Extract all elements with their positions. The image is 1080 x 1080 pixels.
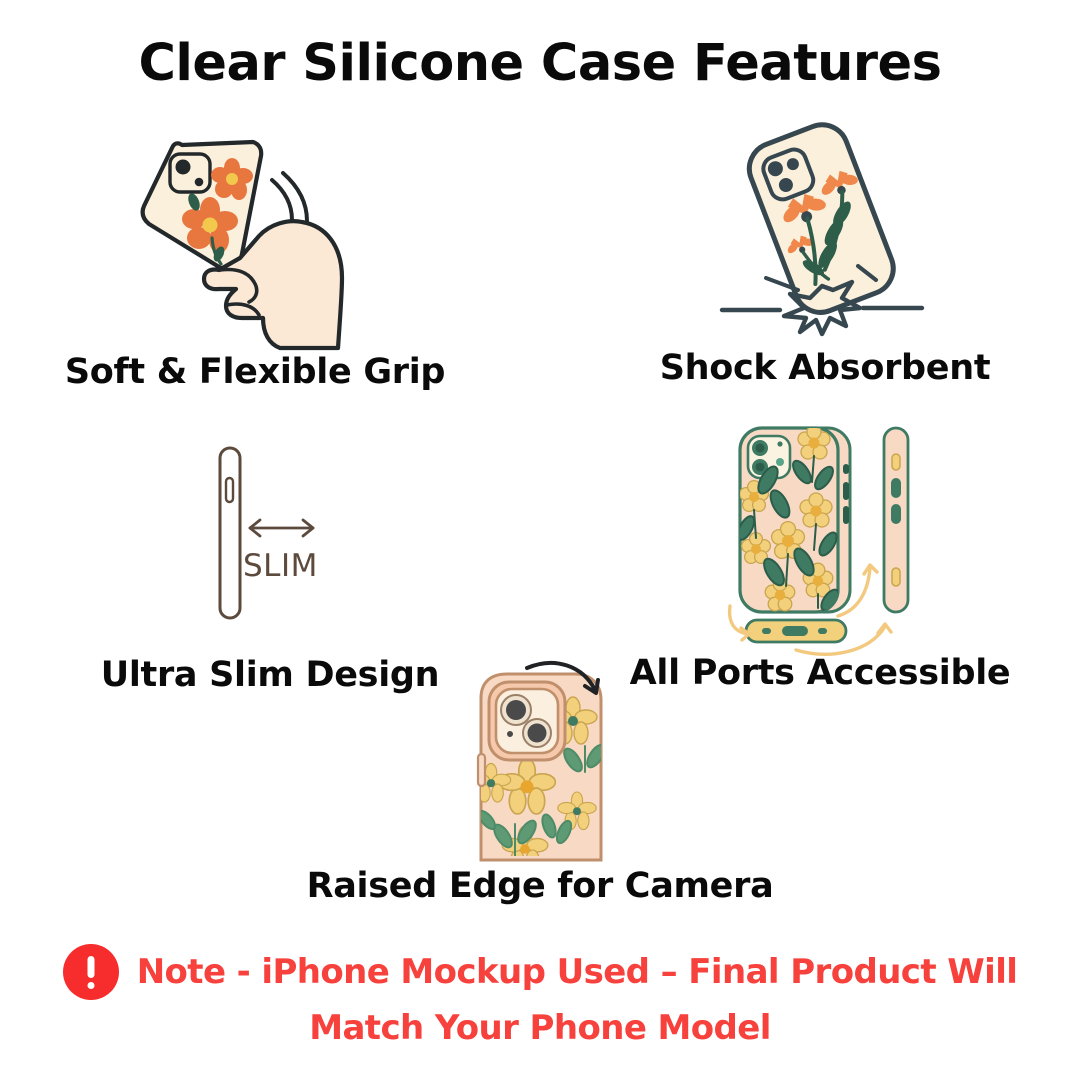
note-text-line-1: Note - iPhone Mockup Used – Final Produc…	[137, 952, 1018, 992]
hand-holding-flexing-phone-case-icon	[143, 142, 342, 348]
all-ports-accessible-illustration	[718, 420, 933, 660]
raised-edge-camera-illustration	[465, 660, 650, 860]
note-text-line-2: Match Your Phone Model	[309, 1008, 771, 1048]
slim-width-arrow-icon	[250, 520, 313, 536]
shock-absorbent-illustration	[700, 118, 945, 338]
note-banner: Note - iPhone Mockup Used – Final Produc…	[0, 944, 1080, 1048]
feature-label-ultra-slim-design: Ultra Slim Design	[0, 655, 540, 695]
feature-label-soft-flexible-grip: Soft & Flexible Grip	[0, 352, 510, 392]
phone-drop-impact-icon	[722, 117, 922, 334]
alert-exclamation-icon	[63, 944, 119, 1000]
infographic-page: Clear Silicone Case Features	[0, 0, 1080, 1080]
phone-camera-raised-bezel-icon	[471, 663, 608, 871]
ultra-slim-design-illustration	[190, 430, 370, 630]
phone-case-ports-cutouts-icon	[730, 425, 908, 654]
phone-side-profile-thickness-icon	[220, 448, 240, 618]
exclamation-stem	[87, 956, 94, 978]
feature-label-raised-edge-for-camera: Raised Edge for Camera	[180, 866, 900, 906]
side-edge-buttons-view	[884, 428, 908, 612]
feature-label-shock-absorbent: Shock Absorbent	[570, 348, 1080, 388]
exclamation-dot	[87, 982, 94, 989]
page-title: Clear Silicone Case Features	[0, 34, 1080, 93]
bottom-edge-ports-view	[746, 620, 846, 642]
soft-flexible-grip-illustration	[120, 118, 380, 348]
note-first-line: Note - iPhone Mockup Used – Final Produc…	[0, 944, 1080, 1000]
slim-annotation-label: SLIM	[243, 548, 318, 584]
